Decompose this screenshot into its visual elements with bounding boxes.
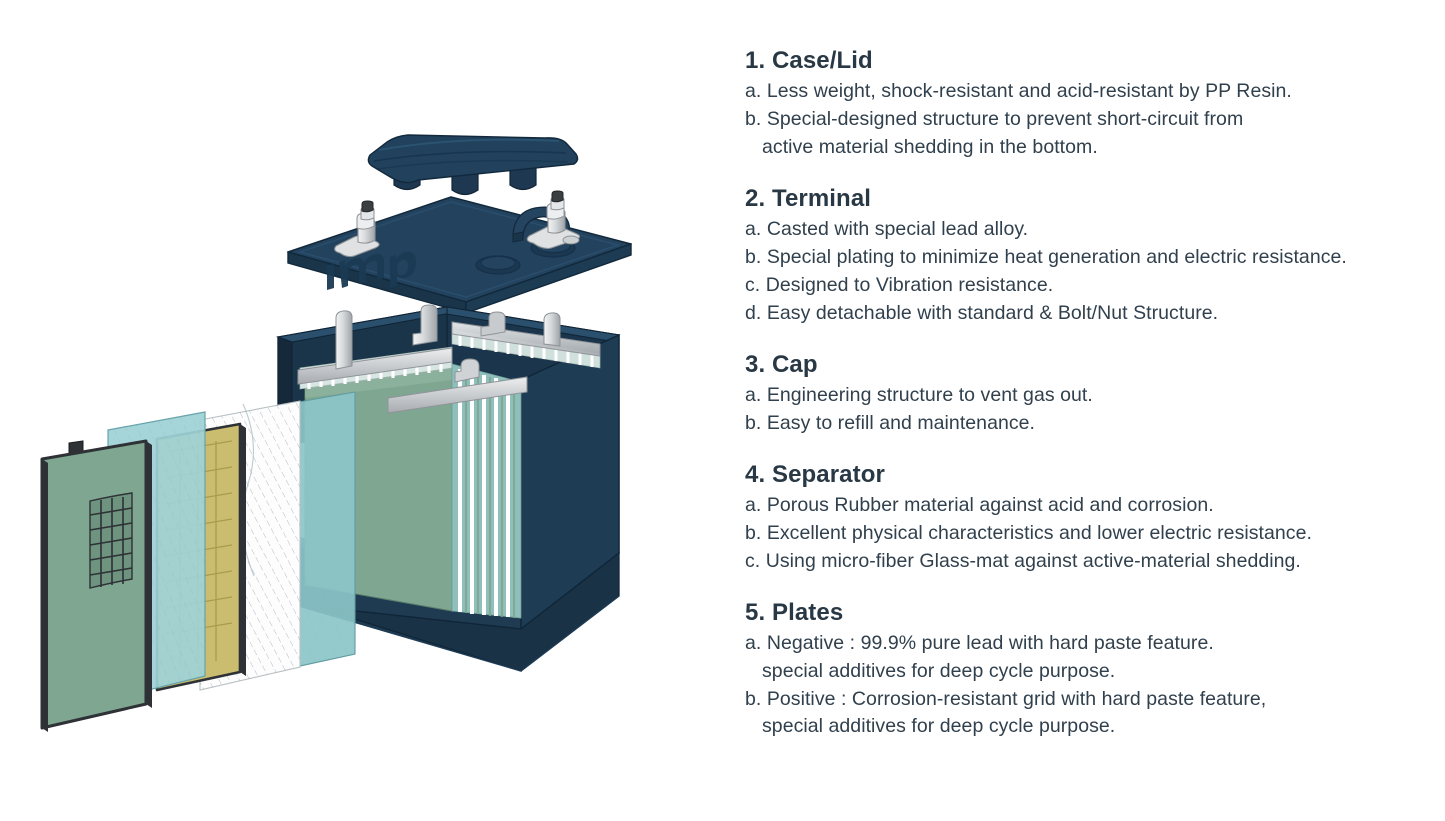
plate-negative-grid-window xyxy=(90,493,132,588)
cap-strip xyxy=(368,135,577,195)
spec-line: d. Easy detachable with standard & Bolt/… xyxy=(745,300,1410,328)
spec-section-title: 5. Plates xyxy=(745,598,1410,627)
spec-line: a. Engineering structure to vent gas out… xyxy=(745,382,1410,410)
battery-exploded-illustration xyxy=(0,0,720,821)
specification-list: 1. Case/Lid a. Less weight, shock-resist… xyxy=(745,46,1410,741)
spec-line: b. Special-designed structure to prevent… xyxy=(745,106,1410,134)
spec-section-title: 3. Cap xyxy=(745,350,1410,379)
plate-negative xyxy=(42,441,152,732)
spec-line: special additives for deep cycle purpose… xyxy=(745,713,1410,741)
spec-section-case-lid: 1. Case/Lid a. Less weight, shock-resist… xyxy=(745,46,1410,162)
lid xyxy=(288,191,631,313)
spec-line: c. Designed to Vibration resistance. xyxy=(745,272,1410,300)
spec-line: a. Negative : 99.9% pure lead with hard … xyxy=(745,630,1410,658)
spec-line: active material shedding in the bottom. xyxy=(745,134,1410,162)
spec-section-separator: 4. Separator a. Porous Rubber material a… xyxy=(745,460,1410,576)
spec-section-title: 4. Separator xyxy=(745,460,1410,489)
spec-line: b. Positive : Corrosion-resistant grid w… xyxy=(745,686,1410,714)
spec-line: a. Porous Rubber material against acid a… xyxy=(745,492,1410,520)
spec-section-title: 2. Terminal xyxy=(745,184,1410,213)
spec-line: b. Special plating to minimize heat gene… xyxy=(745,244,1410,272)
spec-section-cap: 3. Cap a. Engineering structure to vent … xyxy=(745,350,1410,438)
spec-line: a. Less weight, shock-resistant and acid… xyxy=(745,78,1410,106)
spec-line: b. Excellent physical characteristics an… xyxy=(745,520,1410,548)
spec-line: a. Casted with special lead alloy. xyxy=(745,216,1410,244)
spec-section-terminal: 2. Terminal a. Casted with special lead … xyxy=(745,184,1410,328)
spec-section-plates: 5. Plates a. Negative : 99.9% pure lead … xyxy=(745,598,1410,742)
spec-line: c. Using micro-fiber Glass-mat against a… xyxy=(745,548,1410,576)
spec-line: special additives for deep cycle purpose… xyxy=(745,658,1410,686)
spec-section-title: 1. Case/Lid xyxy=(745,46,1410,75)
spec-line: b. Easy to refill and maintenance. xyxy=(745,410,1410,438)
battery-spec-page: 1. Case/Lid a. Less weight, shock-resist… xyxy=(0,0,1445,821)
